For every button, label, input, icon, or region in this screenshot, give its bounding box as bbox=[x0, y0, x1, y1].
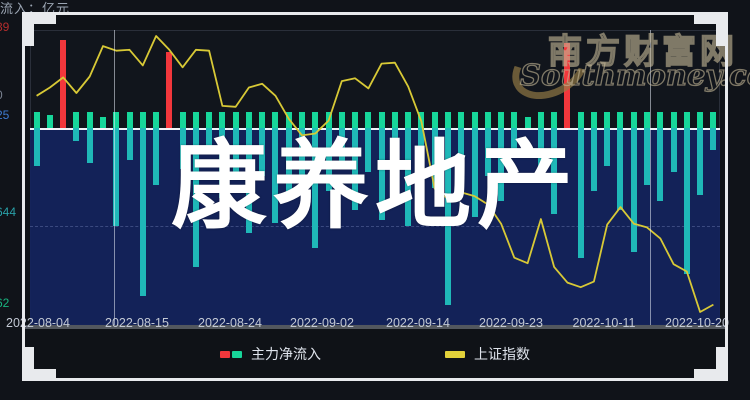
legend-item-net-inflow[interactable]: 主力净流入 bbox=[220, 344, 321, 364]
legend-label-index: 上证指数 bbox=[474, 344, 530, 364]
frame-top bbox=[22, 12, 728, 15]
x-axis-label-6: 2022-10-11 bbox=[572, 316, 635, 330]
y-axis-label-1: 0 bbox=[0, 88, 3, 102]
page-title: 康养地产 bbox=[0, 138, 750, 234]
x-axis-label-2: 2022-08-24 bbox=[198, 316, 262, 330]
chart-screenshot: 流入：亿元 3902564462 2022-08-042022-08-15202… bbox=[0, 0, 750, 400]
x-axis-label-5: 2022-09-23 bbox=[479, 316, 543, 330]
x-axis-label-1: 2022-08-15 bbox=[105, 316, 169, 330]
x-axis-label-3: 2022-09-02 bbox=[290, 316, 354, 330]
y-axis-label-4: 62 bbox=[0, 296, 9, 310]
frame-corner-top-right-v bbox=[716, 12, 728, 46]
y-axis-label-2: 25 bbox=[0, 108, 9, 122]
legend-item-index[interactable]: 上证指数 bbox=[445, 344, 530, 364]
x-axis-label-7: 2022-10-20 bbox=[665, 316, 729, 330]
frame-right bbox=[725, 12, 728, 381]
y-axis-label-0: 39 bbox=[0, 20, 9, 34]
legend-label-net-inflow: 主力净流入 bbox=[251, 344, 321, 364]
x-axis-label-0: 2022-08-04 bbox=[6, 316, 70, 330]
frame-corner-bottom-left-v bbox=[22, 347, 34, 381]
legend-bar-swatch-icon bbox=[220, 351, 242, 358]
frame-corner-top-left-v bbox=[22, 12, 34, 46]
frame-left bbox=[22, 12, 25, 381]
frame-bottom bbox=[22, 378, 728, 381]
chart-legend: 主力净流入 上证指数 bbox=[0, 340, 750, 368]
x-axis-label-4: 2022-09-14 bbox=[386, 316, 450, 330]
frame-corner-bottom-right-v bbox=[716, 347, 728, 381]
legend-line-swatch-icon bbox=[445, 351, 465, 358]
